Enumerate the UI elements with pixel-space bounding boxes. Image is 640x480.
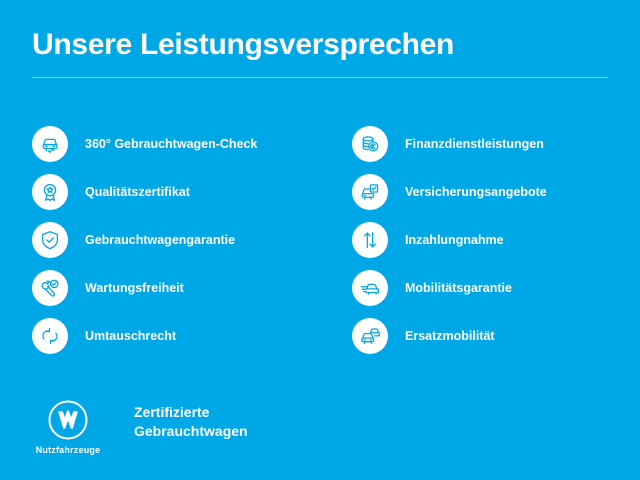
exchange-arrows-icon <box>32 318 68 354</box>
service-item: Wartungsfreiheit <box>32 264 320 312</box>
service-item: Finanzdienstleistungen <box>352 120 640 168</box>
service-item: Inzahlungnahme <box>352 216 640 264</box>
service-item: 360° Gebrauchtwagen-Check <box>32 120 320 168</box>
award-rosette-icon <box>32 174 68 210</box>
page-title: Unsere Leistungsversprechen <box>32 28 608 61</box>
service-label: Umtauschrecht <box>85 329 176 344</box>
car-motion-icon <box>352 270 388 306</box>
arrows-up-down-icon <box>352 222 388 258</box>
service-item: Gebrauchtwagengarantie <box>32 216 320 264</box>
promo-slide: Unsere Leistungsversprechen <box>0 0 640 480</box>
car-clipboard-icon <box>352 174 388 210</box>
service-label: Qualitätszertifikat <box>85 185 190 200</box>
footer-text: Zertifizierte Gebrauchtwagen <box>134 403 248 441</box>
shield-check-icon <box>32 222 68 258</box>
service-label: Ersatzmobilität <box>405 329 495 344</box>
vw-roundel-logo <box>46 398 90 442</box>
service-label: Finanzdienstleistungen <box>405 137 544 152</box>
brand-logo-subtitle: Nutzfahrzeuge <box>36 445 101 455</box>
footer-line-2: Gebrauchtwagen <box>134 422 248 441</box>
service-label: Wartungsfreiheit <box>85 281 184 296</box>
car-check-icon <box>32 126 68 162</box>
header-divider <box>32 77 608 78</box>
services-column-left: 360° Gebrauchtwagen-Check Qualitätszerti… <box>0 120 320 360</box>
services-grid: 360° Gebrauchtwagen-Check Qualitätszerti… <box>0 120 640 360</box>
service-item: Qualitätszertifikat <box>32 168 320 216</box>
service-label: 360° Gebrauchtwagen-Check <box>85 137 257 152</box>
service-item: Umtauschrecht <box>32 312 320 360</box>
service-item: Versicherungsangebote <box>352 168 640 216</box>
footer-line-1: Zertifizierte <box>134 403 248 422</box>
service-label: Versicherungsangebote <box>405 185 547 200</box>
header: Unsere Leistungsversprechen <box>32 28 608 78</box>
brand-logo: Nutzfahrzeuge <box>32 398 104 455</box>
service-item: Ersatzmobilität <box>352 312 640 360</box>
service-item: Mobilitätsgarantie <box>352 264 640 312</box>
services-column-right: Finanzdienstleistungen Versicherungsange… <box>320 120 640 360</box>
service-label: Gebrauchtwagengarantie <box>85 233 235 248</box>
wrench-check-icon <box>32 270 68 306</box>
service-label: Inzahlungnahme <box>405 233 504 248</box>
service-label: Mobilitätsgarantie <box>405 281 512 296</box>
two-cars-icon <box>352 318 388 354</box>
footer: Nutzfahrzeuge Zertifizierte Gebrauchtwag… <box>32 398 248 455</box>
coins-euro-icon <box>352 126 388 162</box>
